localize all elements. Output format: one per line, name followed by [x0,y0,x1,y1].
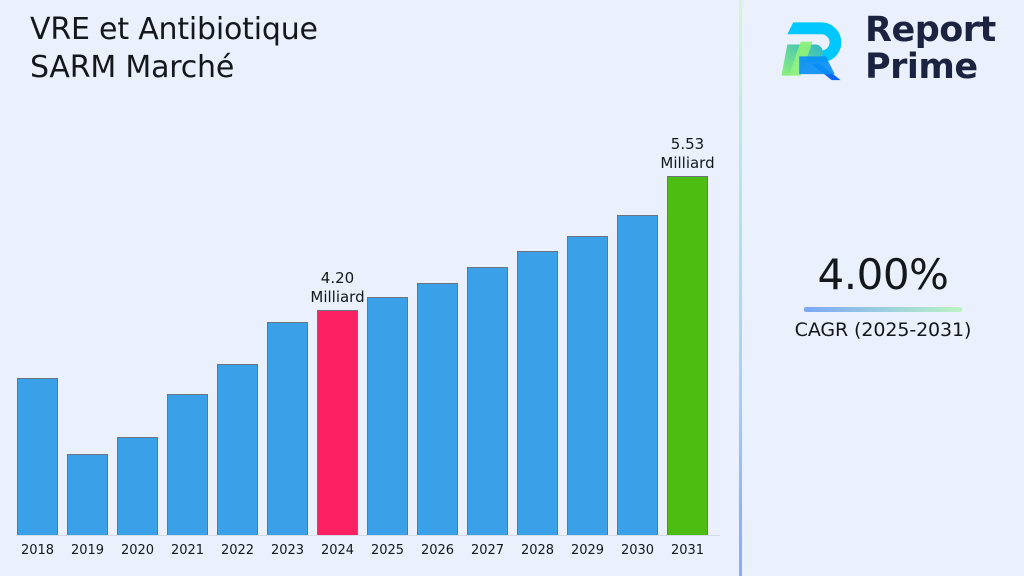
x-tick-2020: 2020 [117,543,158,558]
bar-2024[interactable]: 4.20 Milliard [317,310,358,535]
bar-rect-2021[interactable] [167,394,208,535]
x-tick-2031: 2031 [667,543,708,558]
bar-rect-2030[interactable] [617,215,658,535]
cagr-value: 4.00% [742,252,1024,298]
chart-panel: VRE et Antibiotique SARM Marché 20182019… [0,0,739,576]
brand-name: Report Prime [865,12,996,86]
cagr-divider-rule [804,307,962,312]
x-tick-2019: 2019 [67,543,108,558]
bar-2022[interactable] [217,364,258,535]
bar-rect-2025[interactable] [367,297,408,535]
chart-title: VRE et Antibiotique SARM Marché [30,11,318,88]
bar-2030[interactable] [617,215,658,535]
x-tick-2018: 2018 [17,543,58,558]
bar-rect-2026[interactable] [417,283,458,535]
bar-value-label-2031: 5.53 Milliard [638,135,738,172]
bar-2029[interactable] [567,236,608,535]
bar-2018[interactable] [17,378,58,535]
bar-rect-2018[interactable] [17,378,58,535]
bar-2028[interactable] [517,251,558,535]
x-tick-2025: 2025 [367,543,408,558]
bar-rect-2028[interactable] [517,251,558,535]
bar-rect-2031[interactable] [667,176,708,535]
x-tick-2029: 2029 [567,543,608,558]
bar-2019[interactable] [67,454,108,535]
x-tick-2030: 2030 [617,543,658,558]
bar-rect-2022[interactable] [217,364,258,535]
x-axis-line [17,535,720,536]
bar-rect-2024[interactable] [317,310,358,535]
bar-2026[interactable] [417,283,458,535]
x-tick-2021: 2021 [167,543,208,558]
bar-2031[interactable]: 5.53 Milliard [667,176,708,535]
report-prime-logo-icon [777,12,851,86]
x-tick-2024: 2024 [317,543,358,558]
brand-logo-block: Report Prime [777,12,996,86]
x-tick-2022: 2022 [217,543,258,558]
cagr-block: 4.00% CAGR (2025-2031) [742,252,1024,341]
bar-rect-2027[interactable] [467,267,508,535]
bar-2027[interactable] [467,267,508,535]
x-tick-2023: 2023 [267,543,308,558]
cagr-caption: CAGR (2025-2031) [742,319,1024,341]
x-tick-2027: 2027 [467,543,508,558]
x-tick-2028: 2028 [517,543,558,558]
bar-rect-2020[interactable] [117,437,158,535]
bar-2023[interactable] [267,322,308,535]
bar-2025[interactable] [367,297,408,535]
bar-2021[interactable] [167,394,208,535]
brand-side-panel: Report Prime 4.00% CAGR (2025-2031) [742,0,1024,576]
bar-rect-2023[interactable] [267,322,308,535]
bar-rect-2019[interactable] [67,454,108,535]
bar-rect-2029[interactable] [567,236,608,535]
x-tick-2026: 2026 [417,543,458,558]
bar-2020[interactable] [117,437,158,535]
